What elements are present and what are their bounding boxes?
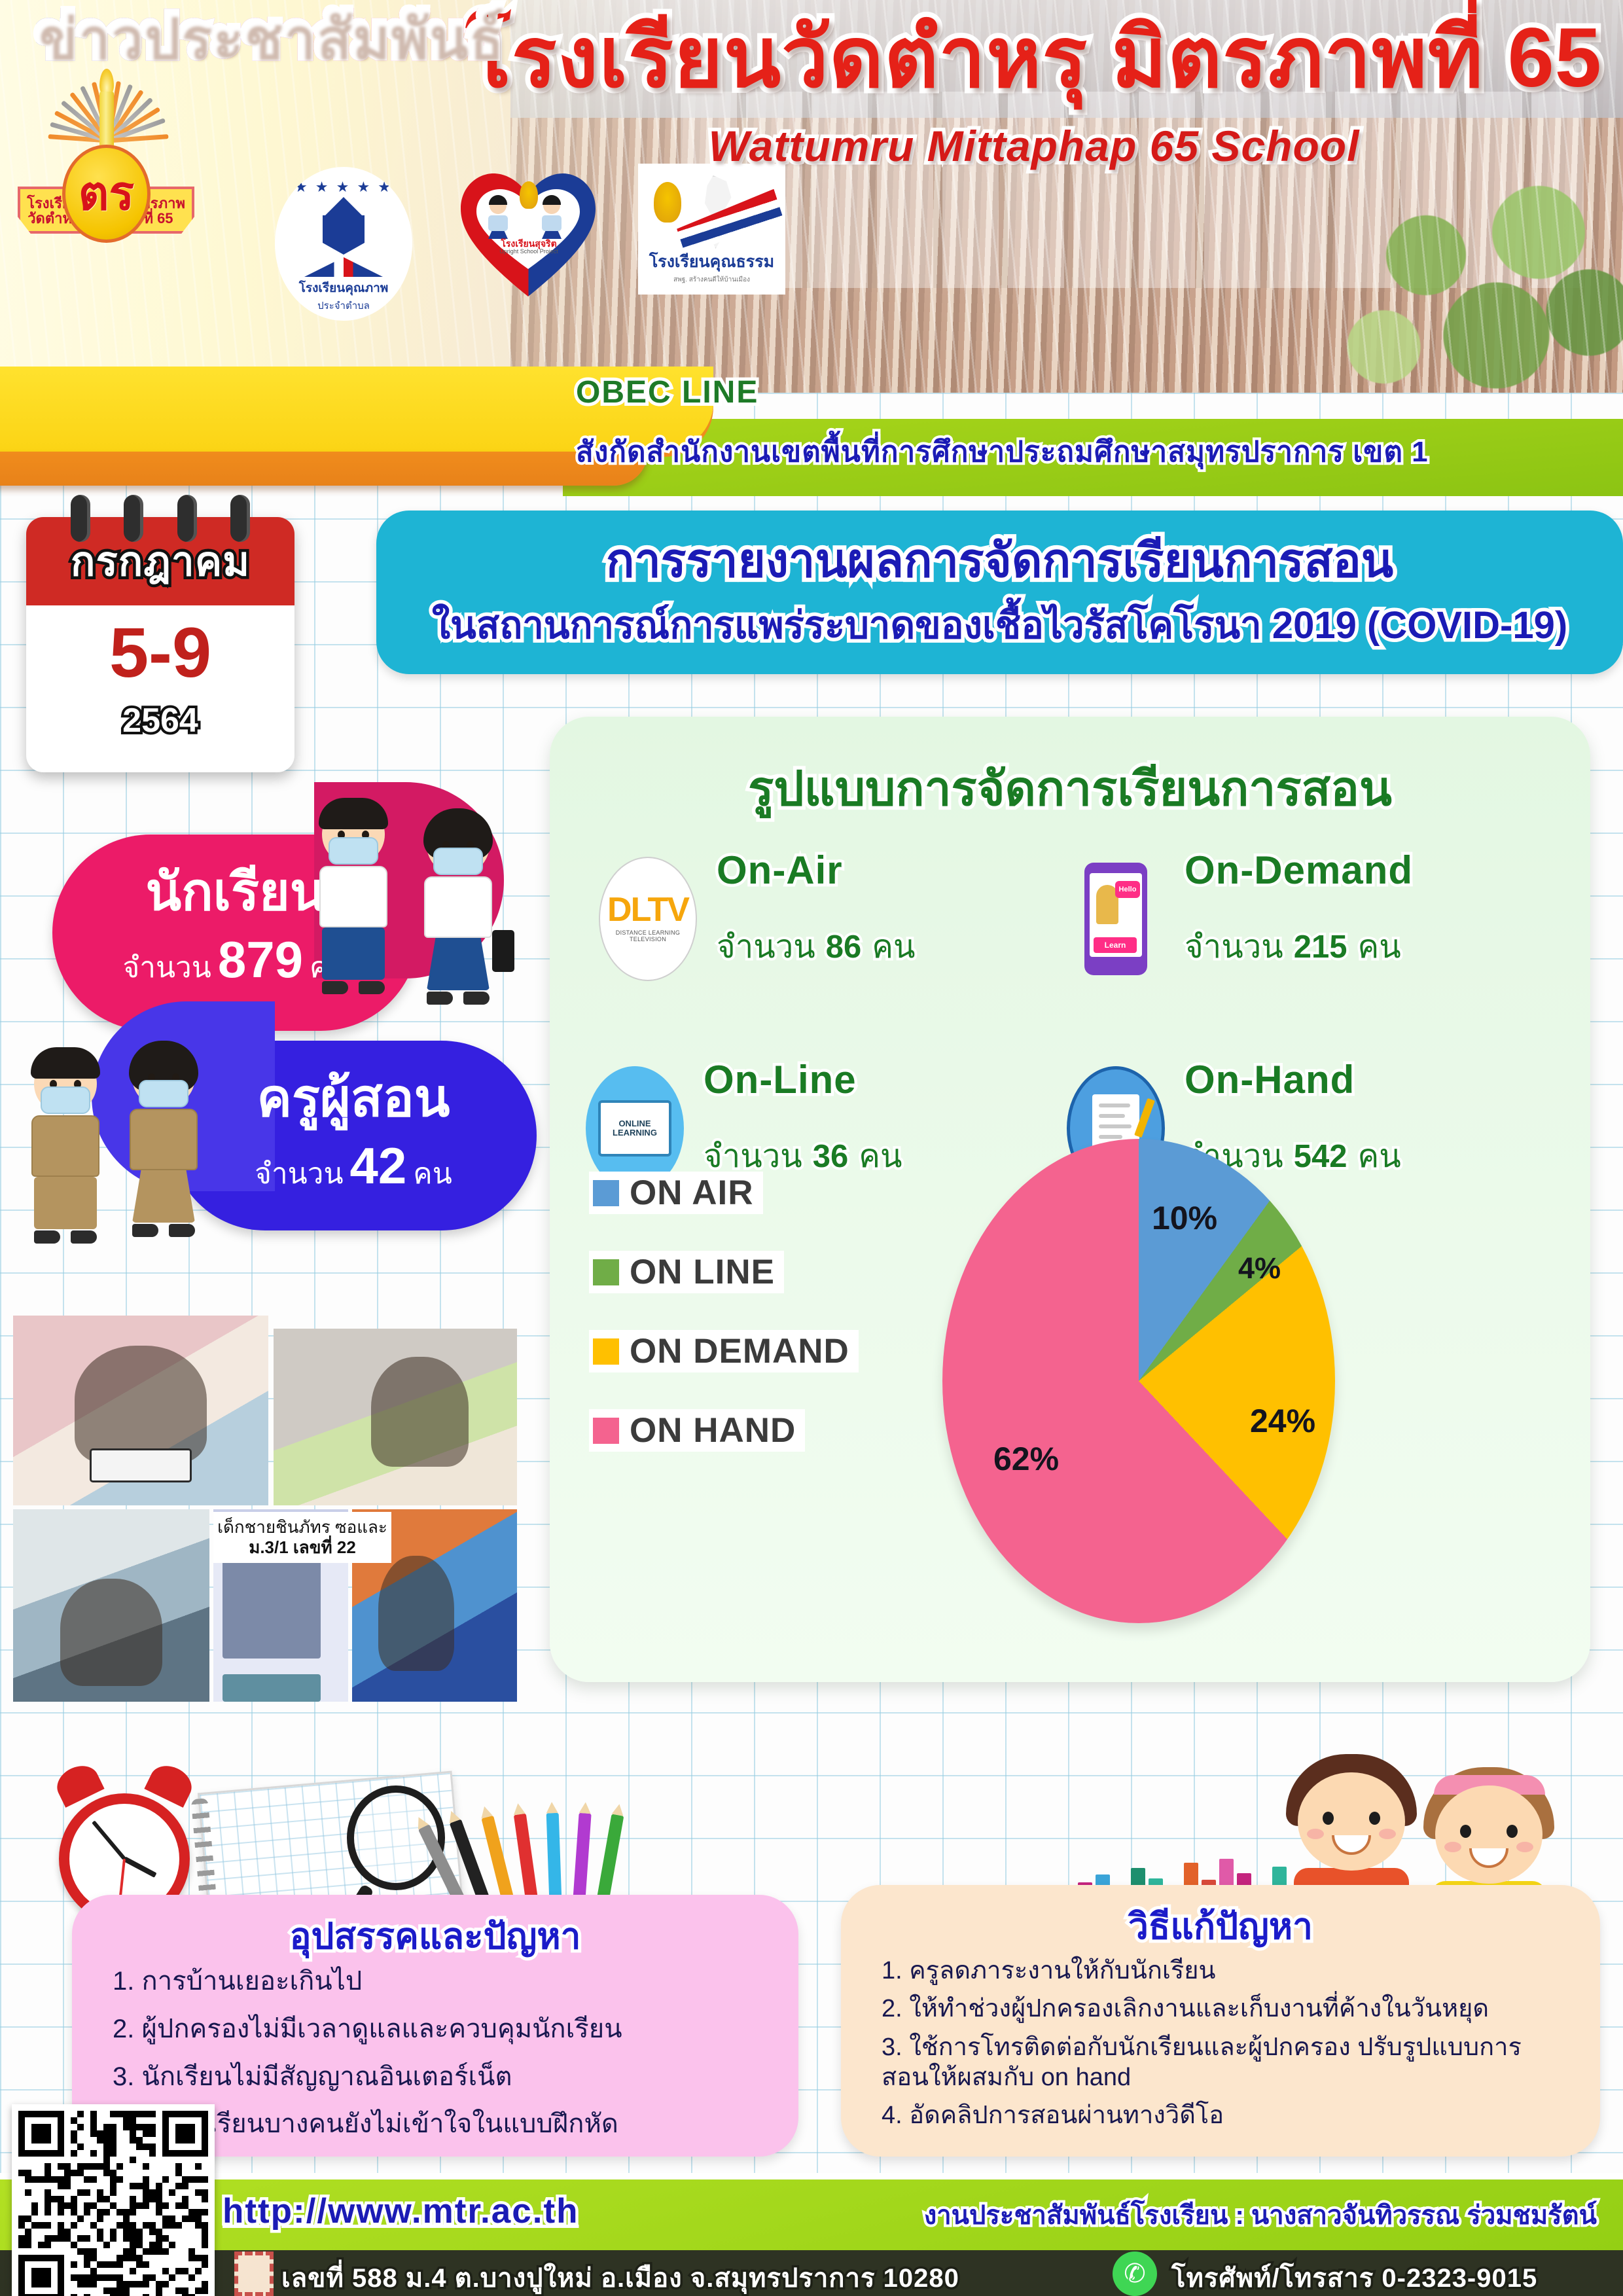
school-title-english: Wattumru Mittaphap 65 School: [458, 121, 1610, 171]
modes-panel-title: รูปแบบการจัดการเรียนการสอน: [550, 751, 1590, 827]
crown-icon: [324, 197, 363, 217]
photo-student-studying-bed: [13, 1316, 268, 1505]
photo-student-at-window: [13, 1509, 209, 1702]
mode-name-on-line: On-Line: [704, 1057, 857, 1102]
upright-logo-line1: โรงเรียนสุจริต: [501, 238, 556, 249]
affiliation-text: สังกัดสำนักงานเขตพื้นที่การศึกษาประถมศึก…: [576, 429, 1429, 475]
legend-swatch-on-demand: [593, 1338, 619, 1365]
phone-icon: ✆: [1113, 2251, 1157, 2296]
teacher-badge-label: ครูผู้สอน: [170, 1072, 537, 1124]
mode-name-on-demand: On-Demand: [1185, 848, 1413, 893]
problems-box-title: อุปสรรคและปัญหา: [72, 1908, 798, 1965]
envelope-icon: [234, 2251, 274, 2296]
pie-chart-area: ON AIR ON LINE ON DEMAND ON HAND 10% 4% …: [576, 1132, 1571, 1656]
teacher-male-figure: [20, 1054, 111, 1244]
teacher-count-badge: ครูผู้สอน จำนวน42คน: [170, 1041, 537, 1230]
chart-legend: ON AIR ON LINE ON DEMAND ON HAND: [589, 1172, 859, 1488]
royal-seal-icon: [654, 182, 681, 223]
moral-logo-line2: สพฐ. สร้างคนดีให้บ้านเมือง: [638, 275, 785, 285]
student-count-prefix: จำนวน: [122, 952, 211, 984]
student-count-value: 879: [218, 931, 303, 988]
dltv-icon-caption: DISTANCE LEARNING TELEVISION: [600, 929, 696, 943]
face-mask-icon: [139, 1080, 188, 1107]
main-title-line2: ในสถานการณ์การแพร่ระบาดของเชื้อไวรัสโคโร…: [376, 594, 1623, 655]
student-boy-figure: [308, 804, 399, 994]
main-title-line1: การรายงานผลการจัดการเรียนการสอน: [376, 522, 1623, 598]
legend-item[interactable]: ON LINE: [589, 1251, 784, 1293]
dltv-icon: DLTV DISTANCE LEARNING TELEVISION: [599, 857, 697, 981]
solution-item: อัดคลิปการสอนผ่านทางวิดีโอ: [878, 2100, 1563, 2130]
mode-count-value: 86: [826, 929, 862, 965]
child-girl-icon: [487, 197, 509, 236]
student-figures: [308, 795, 524, 1050]
moral-logo-text: โรงเรียนคุณธรรม สพฐ. สร้างคนดีให้บ้านเมื…: [638, 249, 785, 285]
photo-collage: ‹ ป.2 ห้อง 1… (38) เด็กชายชินภัทร ซอและ …: [13, 1316, 517, 1702]
photo-girl-writing-books: [274, 1329, 517, 1505]
quality-logo-line2: ประจำตำบล: [317, 298, 370, 314]
problem-item: ผู้ปกครองไม่มีเวลาดูแลและควบคุมนักเรียน: [109, 2013, 762, 2045]
chat-image-message: [223, 1674, 321, 1702]
teacher-count-unit: คน: [413, 1158, 452, 1190]
pie-label-on-demand: 24%: [1250, 1402, 1315, 1440]
legend-item[interactable]: ON DEMAND: [589, 1330, 859, 1372]
mode-name-on-air: On-Air: [717, 848, 843, 893]
legend-swatch-on-line: [593, 1259, 619, 1285]
chat-image-message: [223, 1560, 321, 1659]
news-ribbon-shadow: [0, 452, 648, 486]
pie-chart: 10% 4% 24% 62%: [942, 1139, 1348, 1636]
mode-count-prefix: จำนวน: [717, 929, 815, 965]
calendar-card: กรกฎาคม 5-9 2564: [26, 517, 294, 772]
moral-school-logo: โรงเรียนคุณธรรม สพฐ. สร้างคนดีให้บ้านเมื…: [638, 164, 785, 295]
royal-seal-icon: [520, 181, 538, 209]
emblem-disc: ตร: [62, 145, 151, 243]
learn-button-text: Learn: [1094, 937, 1137, 953]
teacher-count-prefix: จำนวน: [255, 1158, 343, 1190]
obec-line-label: OBEC LINE: [576, 374, 758, 410]
collage-caption-line1: เด็กชายชินภัทร ซอและ: [217, 1517, 387, 1537]
problem-item: นักเรียนไม่มีสัญญาณอินเตอร์เน็ต: [109, 2061, 762, 2093]
moral-logo-line1: โรงเรียนคุณธรรม: [649, 253, 774, 271]
child-boy-icon: [541, 197, 563, 236]
qr-code[interactable]: [12, 2104, 215, 2296]
mode-card-on-demand[interactable]: Hello Learn On-Demand จำนวน215คน: [1067, 848, 1499, 1011]
collage-caption: เด็กชายชินภัทร ซอและ ม.3/1 เลขที่ 22: [213, 1512, 391, 1563]
logo-stars-icon: ★ ★ ★ ★ ★: [294, 179, 393, 196]
footer-phone-text: โทรศัพท์/โทรสาร 0-2323-9015: [1171, 2257, 1537, 2296]
pie-label-on-air: 10%: [1152, 1199, 1217, 1237]
solution-item: ครูลดภาระงานให้กับนักเรียน: [878, 1956, 1563, 1986]
mode-count-unit: คน: [872, 929, 915, 965]
upright-logo-text: โรงเรียนสุจริต Upright School Project: [490, 239, 568, 255]
calendar-day-range: 5-9: [26, 617, 294, 688]
teacher-figures: [20, 1028, 216, 1250]
building-greenery: [1342, 164, 1623, 393]
mode-count-on-air: จำนวน86คน: [717, 921, 916, 972]
school-website-link[interactable]: http://www.mtr.ac.th: [223, 2191, 579, 2231]
legend-label-on-hand: ON HAND: [630, 1410, 796, 1450]
quality-school-logo: ★ ★ ★ ★ ★ โรงเรียนคุณภาพ ประจำตำบล: [275, 167, 412, 321]
teacher-count-value: 42: [350, 1137, 407, 1194]
solution-item: ใช้การโทรติดต่อกับนักเรียนและผู้ปกครอง ป…: [878, 2032, 1563, 2093]
dltv-icon-text: DLTV: [607, 895, 688, 926]
legend-swatch-on-hand: [593, 1418, 619, 1444]
pie-slices[interactable]: [942, 1139, 1335, 1623]
solutions-box: วิธีแก้ปัญหา ครูลดภาระงานให้กับนักเรียน …: [841, 1885, 1600, 2157]
face-mask-icon: [329, 837, 378, 865]
face-mask-icon: [41, 1086, 90, 1114]
legend-swatch-on-air: [593, 1180, 619, 1206]
legend-label-on-demand: ON DEMAND: [630, 1331, 849, 1371]
poster-root: โรงเรียนวัดตำหรุ มิตรภาพที่ 65 ตร ★ ★ ★ …: [0, 0, 1623, 2296]
footer-address-text: เลขที่ 588 ม.4 ต.บางปูใหม่ อ.เมือง จ.สมุ…: [281, 2257, 959, 2296]
school-bag-icon: [492, 930, 514, 972]
teacher-female-figure: [118, 1047, 209, 1237]
hello-bubble-text: Hello: [1115, 881, 1140, 898]
problem-item: การบ้านเยอะเกินไป: [109, 1965, 762, 1998]
face-mask-icon: [433, 848, 483, 875]
quality-logo-line1: โรงเรียนคุณภาพ: [299, 278, 389, 298]
student-girl-figure: [412, 815, 504, 1005]
mode-card-on-air[interactable]: DLTV DISTANCE LEARNING TELEVISION On-Air…: [599, 848, 1031, 1011]
shield-icon: [323, 215, 365, 255]
mode-count-value: 215: [1294, 929, 1347, 965]
calendar-rings-icon: [26, 495, 294, 541]
legend-label-on-line: ON LINE: [630, 1252, 775, 1292]
teacher-badge-count: จำนวน42คน: [170, 1140, 537, 1191]
legend-item[interactable]: ON HAND: [589, 1409, 805, 1452]
collage-caption-line2: ม.3/1 เลขที่ 22: [249, 1537, 356, 1557]
mode-count-prefix: จำนวน: [1185, 929, 1283, 965]
upright-logo-line2: Upright School Project: [490, 249, 568, 255]
emblem-char: ตร: [79, 170, 134, 217]
legend-item[interactable]: ON AIR: [589, 1172, 763, 1214]
upright-school-logo: โรงเรียนสุจริต Upright School Project: [452, 167, 609, 308]
school-title-thai: โรงเรียนวัดตำหรุ มิตรภาพที่ 65: [458, 14, 1610, 102]
calendar-year: 2564: [26, 701, 294, 740]
mode-count-unit: คน: [1358, 929, 1401, 965]
mobile-learning-icon: Hello Learn: [1067, 857, 1165, 981]
open-book-icon: [304, 257, 383, 277]
solution-item: ให้ทำช่วงผู้ปกครองเลิกงานและเก็บงานที่ค้…: [878, 1994, 1563, 2024]
news-banner-text: ข่าวประชาสัมพันธ์: [36, 8, 502, 64]
main-title-banner: การรายงานผลการจัดการเรียนการสอน ในสถานกา…: [376, 511, 1623, 674]
solutions-box-title: วิธีแก้ปัญหา: [841, 1898, 1600, 1955]
legend-label-on-air: ON AIR: [630, 1173, 754, 1213]
pie-label-on-hand: 62%: [993, 1440, 1059, 1478]
mode-count-on-demand: จำนวน215คน: [1185, 921, 1401, 972]
pie-label-on-line: 4%: [1238, 1251, 1281, 1285]
mode-name-on-hand: On-Hand: [1185, 1057, 1355, 1102]
footer-credit-text: งานประชาสัมพันธ์โรงเรียน : นางสาวจันทิวร…: [924, 2194, 1597, 2236]
